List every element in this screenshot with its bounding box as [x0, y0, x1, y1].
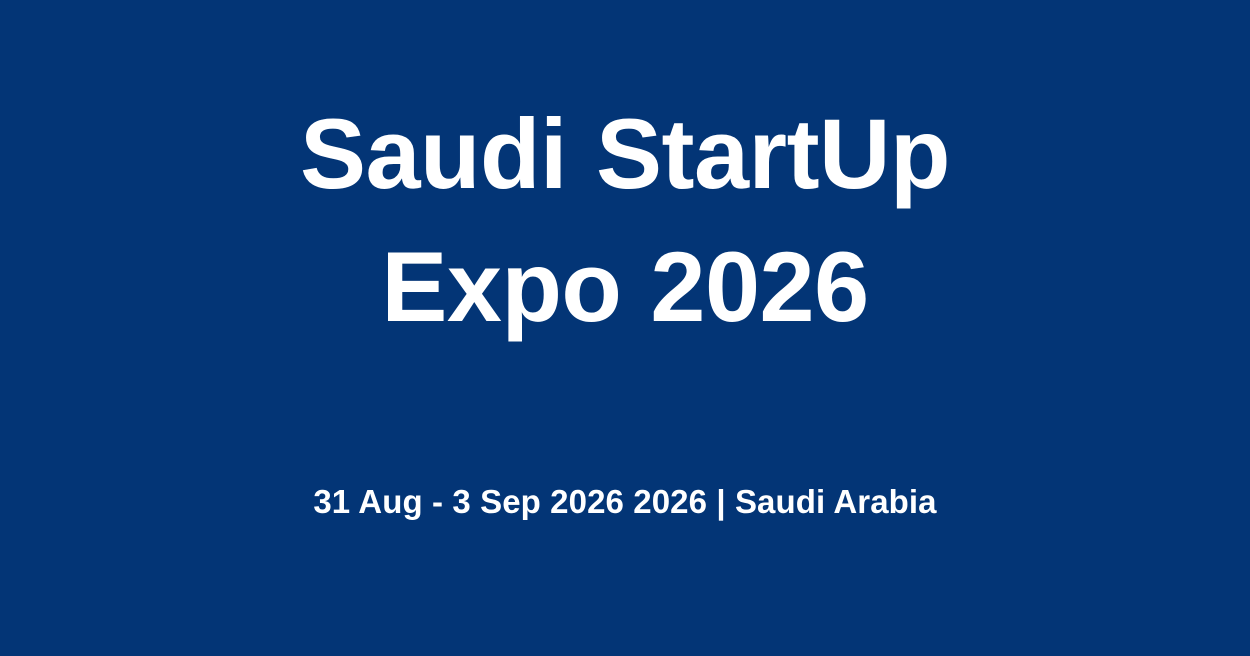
event-date-location: 31 Aug - 3 Sep 2026 2026 | Saudi Arabia — [0, 481, 1250, 524]
banner-content: Saudi StartUp Expo 2026 31 Aug - 3 Sep 2… — [0, 0, 1250, 524]
event-title: Saudi StartUp Expo 2026 — [125, 88, 1125, 353]
event-banner: Saudi StartUp Expo 2026 31 Aug - 3 Sep 2… — [0, 0, 1250, 656]
